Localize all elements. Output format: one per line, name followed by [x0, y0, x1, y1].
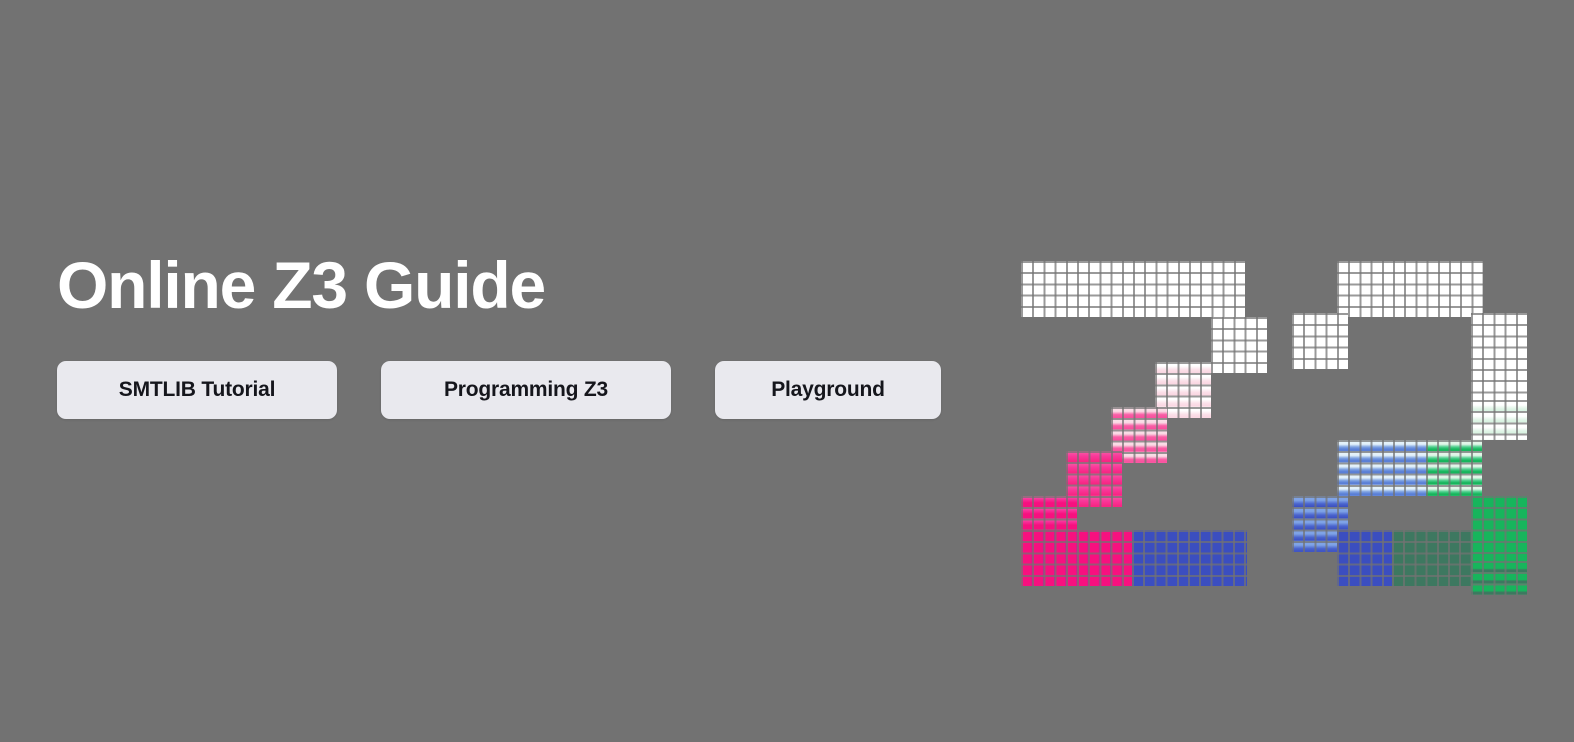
- three-middle-bar-green: [1426, 440, 1482, 496]
- z-bottom-bar-blue: [1132, 530, 1247, 586]
- hero-button-row: SMTLIB Tutorial Programming Z3 Playgroun…: [57, 361, 957, 419]
- page-root: Online Z3 Guide SMTLIB Tutorial Programm…: [0, 0, 1574, 742]
- programming-z3-button[interactable]: Programming Z3: [381, 361, 671, 419]
- z-bottom-bar-pink: [1021, 530, 1133, 586]
- page-title: Online Z3 Guide: [57, 252, 957, 318]
- z3-pixel-logo: Z3: [1021, 261, 1516, 583]
- three-right-lower-tail: [1471, 561, 1527, 595]
- three-middle-bar-blue: [1337, 440, 1427, 496]
- z-descender-1: [1211, 317, 1267, 373]
- smtlib-tutorial-button[interactable]: SMTLIB Tutorial: [57, 361, 337, 419]
- three-top-bar: [1337, 261, 1483, 317]
- playground-button[interactable]: Playground: [715, 361, 941, 419]
- three-bottom-bar-green: [1392, 530, 1471, 586]
- hero-section: Online Z3 Guide SMTLIB Tutorial Programm…: [57, 252, 957, 419]
- three-left-nub-top: [1292, 313, 1348, 369]
- three-bottom-bar-blue: [1337, 530, 1393, 586]
- three-right-upper-fade: [1471, 400, 1527, 440]
- z-top-bar: [1021, 261, 1245, 317]
- three-right-upper-col: [1471, 313, 1527, 403]
